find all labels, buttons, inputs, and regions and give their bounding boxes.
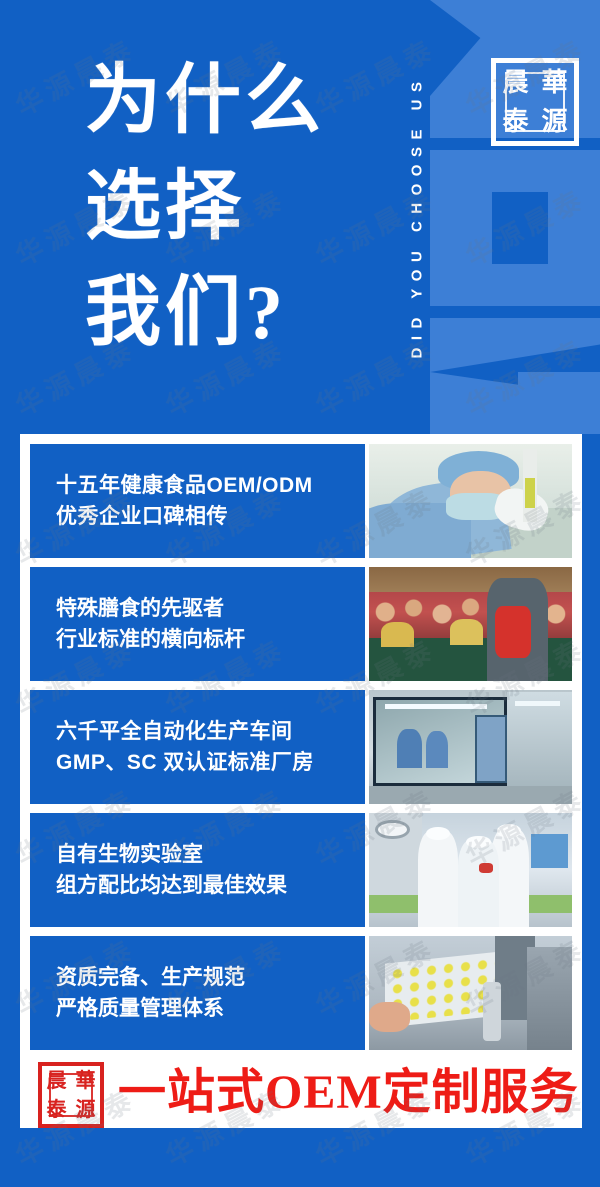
features-panel: 十五年健康食品OEM/ODM 优秀企业口碑相传 特殊膳食的先驱者 行业标准的横向… xyxy=(20,434,582,1128)
feature-row: 六千平全自动化生产车间 GMP、SC 双认证标准厂房 xyxy=(30,690,572,804)
brand-seal-logo-white: 華 晨 源 泰 xyxy=(491,58,579,146)
feature-card: 六千平全自动化生产车间 GMP、SC 双认证标准厂房 xyxy=(30,690,365,804)
feature-line-1: 自有生物实验室 xyxy=(56,839,365,870)
feature-photo-conference xyxy=(369,567,572,681)
vertical-tagline: DID YOU CHOOSE US xyxy=(391,6,443,426)
feature-line-2: 组方配比均达到最佳效果 xyxy=(56,870,365,901)
feature-line-1: 特殊膳食的先驱者 xyxy=(56,593,365,624)
seal-char-yuan: 源 xyxy=(535,102,574,141)
brand-seal-logo-red: 華 晨 源 泰 xyxy=(38,1062,104,1128)
feature-photo-cleanroom xyxy=(369,690,572,804)
feature-line-2: 严格质量管理体系 xyxy=(56,993,365,1024)
watermark-tile: 华源晨泰 xyxy=(424,1174,600,1187)
seal-char-hua: 華 xyxy=(71,1066,100,1095)
feature-line-1: 资质完备、生产规范 xyxy=(56,962,365,993)
feature-line-2: 行业标准的横向标杆 xyxy=(56,624,365,655)
poster-canvas: 为什么 选择 我们? DID YOU CHOOSE US 華 晨 源 泰 十五年… xyxy=(0,0,600,1187)
watermark-tile: 华源晨泰 xyxy=(424,124,600,327)
seal-char-chen: 晨 xyxy=(496,63,535,102)
feature-line-1: 六千平全自动化生产车间 xyxy=(56,716,365,747)
feature-card: 资质完备、生产规范 严格质量管理体系 xyxy=(30,936,365,1050)
feature-row: 特殊膳食的先驱者 行业标准的横向标杆 xyxy=(30,567,572,681)
feature-line-1: 十五年健康食品OEM/ODM xyxy=(56,470,365,501)
features-list: 十五年健康食品OEM/ODM 优秀企业口碑相传 特殊膳食的先驱者 行业标准的横向… xyxy=(30,444,572,1050)
feature-photo-production-line xyxy=(369,813,572,927)
feature-photo-lab-technician xyxy=(369,444,572,558)
seal-char-tai: 泰 xyxy=(42,1095,71,1124)
seal-char-chen: 晨 xyxy=(42,1066,71,1095)
seal-char-tai: 泰 xyxy=(496,102,535,141)
page-title: 为什么 选择 我们? xyxy=(85,48,415,366)
feature-card: 特殊膳食的先驱者 行业标准的横向标杆 xyxy=(30,567,365,681)
feature-line-2: GMP、SC 双认证标准厂房 xyxy=(56,747,365,778)
watermark-tile: 华源晨泰 xyxy=(0,1174,176,1187)
vertical-tagline-text: DID YOU CHOOSE US xyxy=(409,74,426,358)
feature-row: 自有生物实验室 组方配比均达到最佳效果 xyxy=(30,813,572,927)
feature-card: 十五年健康食品OEM/ODM 优秀企业口碑相传 xyxy=(30,444,365,558)
feature-photo-packing-machine xyxy=(369,936,572,1050)
watermark-tile: 华源晨泰 xyxy=(124,1174,327,1187)
feature-line-2: 优秀企业口碑相传 xyxy=(56,501,365,532)
footer-banner: 一站式OEM定制服务 xyxy=(20,1058,582,1128)
seal-char-yuan: 源 xyxy=(71,1095,100,1124)
watermark-tile: 华源晨泰 xyxy=(274,1174,477,1187)
footer-slogan: 一站式OEM定制服务 xyxy=(118,1067,579,1119)
feature-row: 十五年健康食品OEM/ODM 优秀企业口碑相传 xyxy=(30,444,572,558)
feature-card: 自有生物实验室 组方配比均达到最佳效果 xyxy=(30,813,365,927)
feature-row: 资质完备、生产规范 严格质量管理体系 xyxy=(30,936,572,1050)
seal-char-hua: 華 xyxy=(535,63,574,102)
